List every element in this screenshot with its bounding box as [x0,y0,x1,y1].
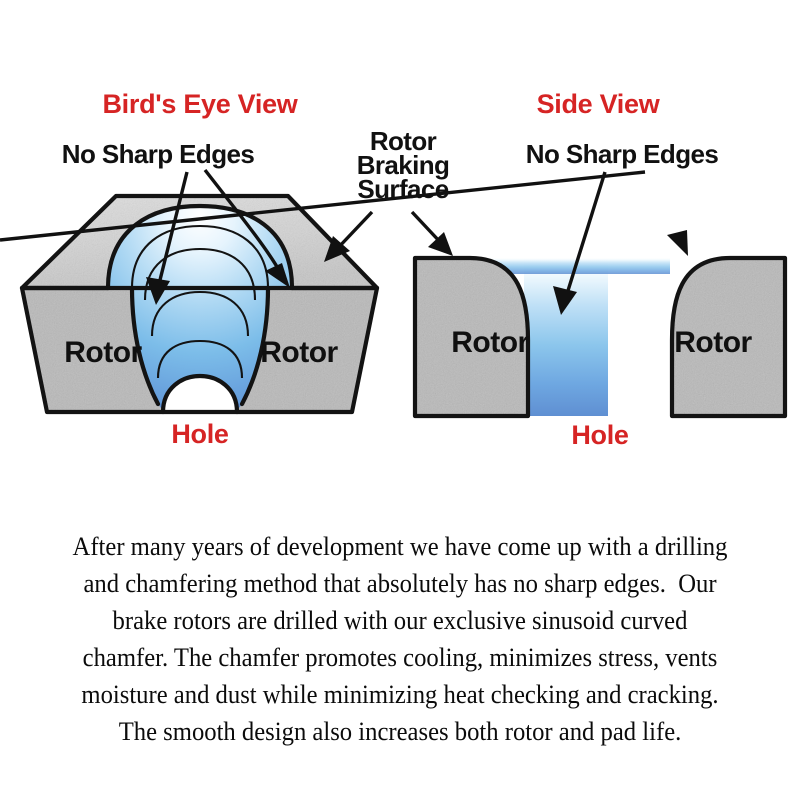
paragraph-line-5: moisture and dust while minimizing heat … [35,676,764,713]
birds-eye-view-title: Bird's Eye View [102,89,298,119]
paragraph-line-3: brake rotors are drilled with our exclus… [35,602,764,639]
paragraph-line-1: After many years of development we have … [35,528,764,565]
braking-surface-arrow-left [324,212,372,262]
side-hole-label: Hole [571,420,629,450]
birds-eye-view-group: Bird's Eye View No Sharp Edges [22,89,377,449]
iso-rotor-label-left: Rotor [64,336,142,369]
paragraph-line-4: chamfer. The chamfer promotes cooling, m… [35,639,764,676]
side-hole-channel [524,258,608,416]
iso-rotor-label-right: Rotor [260,336,338,369]
description-paragraph: After many years of development we have … [35,528,764,750]
right-no-sharp-edges-label: No Sharp Edges [526,139,719,169]
paragraph-line-2: and chamfering method that absolutely ha… [35,565,764,602]
side-view-title: Side View [537,89,661,119]
side-rotor-label-right: Rotor [674,326,752,359]
side-rotor-label-left: Rotor [451,326,529,359]
braking-surface-arrow-right [412,212,453,256]
left-no-sharp-edges-label: No Sharp Edges [62,139,255,169]
diagram-page: Bird's Eye View No Sharp Edges [0,0,800,800]
iso-hole-label: Hole [171,419,229,449]
paragraph-line-6: The smooth design also increases both ro… [35,713,764,750]
